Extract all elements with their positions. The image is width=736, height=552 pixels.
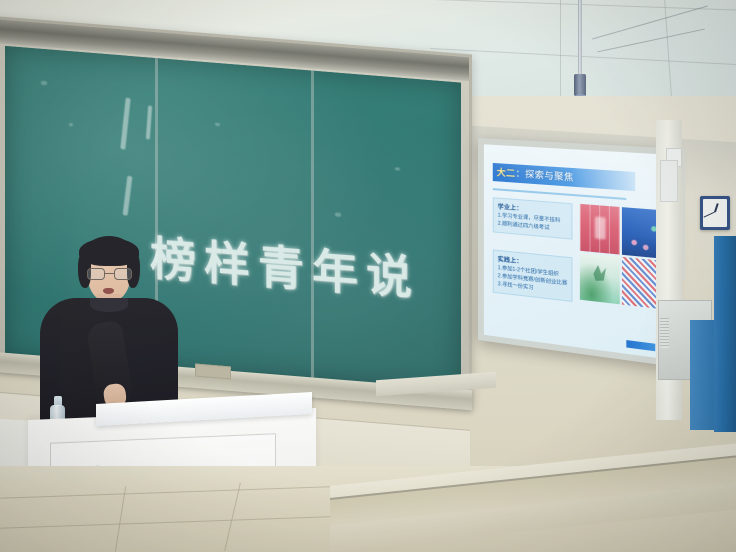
slide-title-separator: ：	[516, 168, 526, 179]
glasses-lens-right	[114, 268, 132, 280]
classroom-photo: 榜样青年说 大二：探索与聚焦 学业上： 1.学习专业课，尽量不挂科 2.顺利通过…	[0, 0, 736, 552]
speaker-pole-joint	[574, 74, 586, 96]
glasses-lens-left	[87, 268, 105, 280]
ceiling-grid-line	[430, 48, 736, 65]
clock-face	[703, 199, 727, 227]
wall-clock	[700, 196, 730, 230]
ceiling-wire	[592, 5, 708, 39]
blue-door-panel[interactable]	[690, 320, 714, 430]
photo-green-landscape	[580, 253, 620, 304]
floor-tile-line	[0, 516, 330, 529]
chalk-residue	[41, 81, 47, 85]
chalk-residue	[335, 212, 341, 216]
floor-tile-line	[0, 486, 330, 499]
wall-conduit-pipe	[683, 150, 685, 280]
chalk-residue	[123, 176, 133, 216]
glasses-icon	[87, 268, 132, 280]
slide-title-number: 大二	[497, 167, 516, 178]
speaker-pole	[578, 0, 582, 78]
projection-screen: 大二：探索与聚焦 学业上： 1.学习专业课，尽量不挂科 2.顺利通过四六级考试 …	[478, 138, 670, 366]
blackboard-panel-divider	[311, 70, 314, 380]
chalk-residue	[215, 123, 220, 126]
cabinet-vent	[660, 318, 669, 348]
clock-hour-hand	[714, 203, 718, 212]
glasses-bridge	[105, 273, 114, 274]
screen-border: 大二：探索与聚焦 学业上： 1.学习专业课，尽量不挂科 2.顺利通过四六级考试 …	[478, 138, 670, 366]
slide-photo-grid	[580, 204, 663, 309]
clock-minute-hand	[703, 211, 714, 217]
sweater-collar	[90, 298, 128, 312]
slide-title-text: 探索与聚焦	[525, 169, 574, 183]
blue-door[interactable]	[714, 236, 736, 432]
photo-red-banner	[580, 204, 620, 255]
floor-tile-line	[115, 486, 126, 551]
chalk-residue	[146, 105, 152, 139]
wall-panel	[660, 160, 678, 202]
chalk-residue	[69, 123, 73, 126]
chalk-tray-clip	[195, 364, 231, 380]
slide-text-block-practice: 实践上： 1.参加1-2个社团/学生组织 2.参加学科竞赛/创新创业比赛 3.寻…	[493, 249, 573, 302]
chalk-residue	[395, 167, 400, 170]
slide-corner-badge	[626, 340, 655, 351]
presentation-slide: 大二：探索与聚焦 学业上： 1.学习专业课，尽量不挂科 2.顺利通过四六级考试 …	[484, 144, 663, 358]
slide-text-block-academic: 学业上： 1.学习专业课，尽量不挂科 2.顺利通过四六级考试	[493, 197, 573, 240]
floor-tile-line	[224, 483, 241, 551]
chalk-residue	[120, 97, 130, 149]
